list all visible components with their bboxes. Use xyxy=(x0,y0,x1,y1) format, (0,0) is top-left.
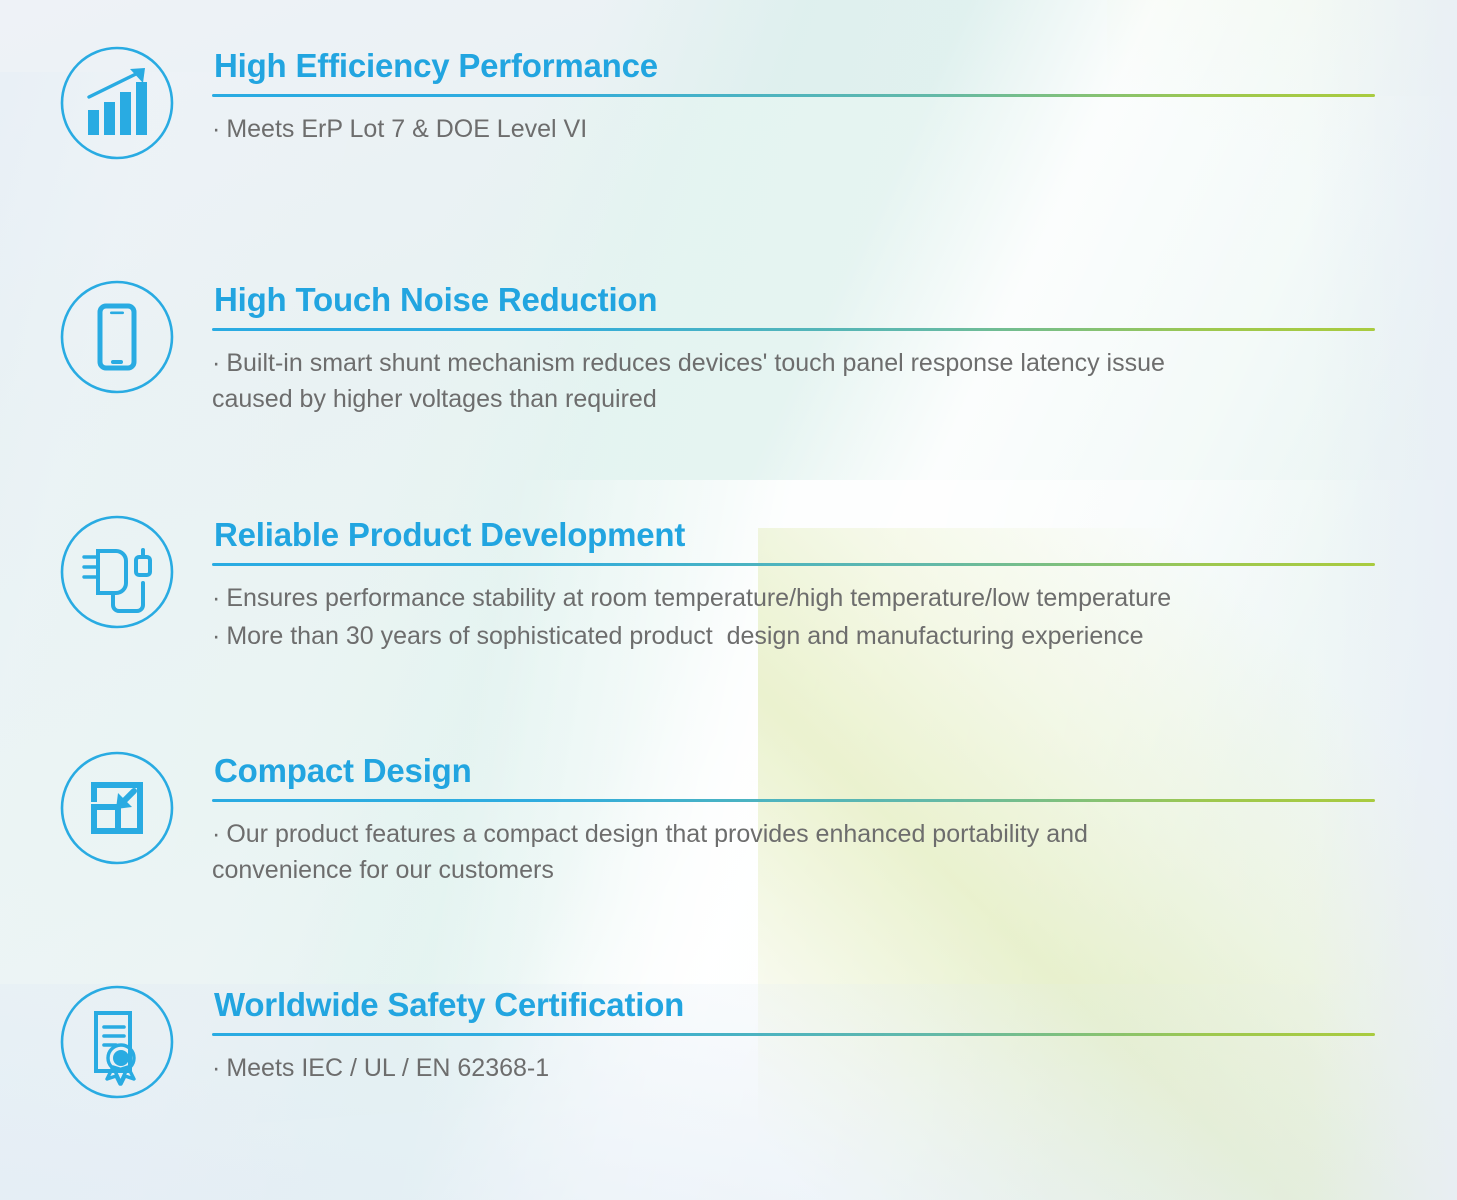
feature-title: High Touch Noise Reduction xyxy=(214,282,1375,318)
bar-chart-growth-icon-container xyxy=(58,44,176,162)
bar-chart-growth-icon xyxy=(58,44,176,162)
feature-divider xyxy=(212,328,1375,331)
feature-description: ·Meets IEC / UL / EN 62368-1 xyxy=(212,1050,1375,1087)
feature-bullet-line: ·Meets IEC / UL / EN 62368-1 xyxy=(212,1050,1375,1087)
feature-bullet-line: ·More than 30 years of sophisticated pro… xyxy=(212,618,1375,655)
feature-title: Compact Design xyxy=(214,753,1375,789)
feature-divider xyxy=(212,799,1375,802)
feature-divider xyxy=(212,1033,1375,1036)
feature-divider xyxy=(212,563,1375,566)
smartphone-icon xyxy=(58,278,176,396)
compact-resize-icon xyxy=(58,749,176,867)
feature-block: High Touch Noise Reduction·Built-in smar… xyxy=(0,278,1375,418)
feature-description: ·Meets ErP Lot 7 & DOE Level VI xyxy=(212,111,1375,148)
feature-bullet-line: ·Our product features a compact design t… xyxy=(212,816,1375,890)
feature-content: Worldwide Safety Certification·Meets IEC… xyxy=(212,983,1375,1086)
feature-bullet-text: Our product features a compact design th… xyxy=(212,820,1088,885)
feature-bullet-text: Meets ErP Lot 7 & DOE Level VI xyxy=(226,115,587,143)
feature-block: High Efficiency Performance·Meets ErP Lo… xyxy=(0,44,1375,162)
feature-bullet-line: ·Meets ErP Lot 7 & DOE Level VI xyxy=(212,111,1375,148)
feature-bullet-text: Built-in smart shunt mechanism reduces d… xyxy=(212,349,1165,414)
feature-content: Compact Design·Our product features a co… xyxy=(212,749,1375,889)
feature-content: High Touch Noise Reduction·Built-in smar… xyxy=(212,278,1375,418)
smartphone-icon-container xyxy=(58,278,176,396)
feature-title: Reliable Product Development xyxy=(214,517,1375,553)
feature-title: High Efficiency Performance xyxy=(214,48,1375,84)
feature-description: ·Our product features a compact design t… xyxy=(212,816,1375,890)
bullet-marker: · xyxy=(212,820,220,848)
feature-title: Worldwide Safety Certification xyxy=(214,987,1375,1023)
feature-content: High Efficiency Performance·Meets ErP Lo… xyxy=(212,44,1375,147)
compact-resize-icon-container xyxy=(58,749,176,867)
power-adapter-icon-container xyxy=(58,513,176,631)
feature-bullet-text: Ensures performance stability at room te… xyxy=(226,584,1171,612)
feature-block: Reliable Product Development·Ensures per… xyxy=(0,513,1375,655)
certificate-award-icon-container xyxy=(58,983,176,1101)
bullet-marker: · xyxy=(212,622,220,650)
feature-bullet-text: Meets IEC / UL / EN 62368-1 xyxy=(226,1054,549,1082)
feature-block: Compact Design·Our product features a co… xyxy=(0,749,1375,889)
bullet-marker: · xyxy=(212,584,220,612)
bullet-marker: · xyxy=(212,349,220,377)
feature-bullet-line: ·Built-in smart shunt mechanism reduces … xyxy=(212,345,1375,419)
feature-bullet-text: More than 30 years of sophisticated prod… xyxy=(226,622,1143,650)
feature-description: ·Built-in smart shunt mechanism reduces … xyxy=(212,345,1375,419)
feature-content: Reliable Product Development·Ensures per… xyxy=(212,513,1375,655)
feature-divider xyxy=(212,94,1375,97)
feature-description: ·Ensures performance stability at room t… xyxy=(212,580,1375,656)
bullet-marker: · xyxy=(212,115,220,143)
certificate-award-icon xyxy=(58,983,176,1101)
feature-bullet-line: ·Ensures performance stability at room t… xyxy=(212,580,1375,617)
power-adapter-icon xyxy=(58,513,176,631)
feature-block: Worldwide Safety Certification·Meets IEC… xyxy=(0,983,1375,1101)
bullet-marker: · xyxy=(212,1054,220,1082)
